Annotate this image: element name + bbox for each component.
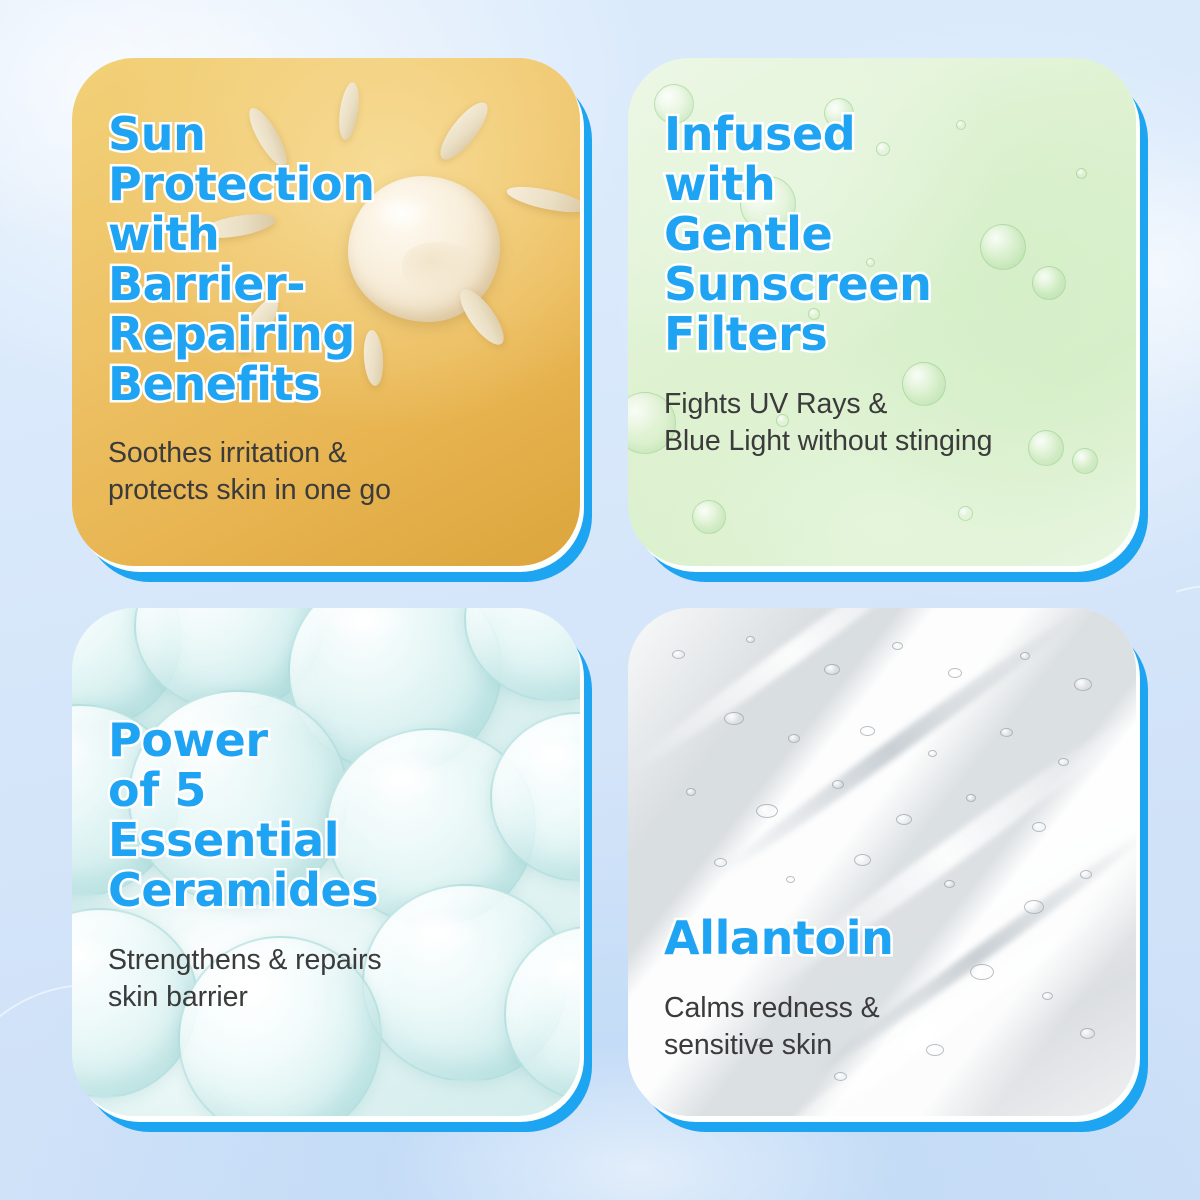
card-text-block: Infused with Gentle Sunscreen Filters Fi…: [628, 58, 1136, 566]
card-headline: Power of 5 Essential Ceramides: [108, 716, 550, 916]
benefit-card-sun-protection[interactable]: Sun Protection with Barrier-Repairing Be…: [72, 58, 580, 566]
card-headline: Sun Protection with Barrier-Repairing Be…: [108, 110, 550, 409]
infographic-page: Sun Protection with Barrier-Repairing Be…: [0, 0, 1200, 1200]
card-subline: Calms redness & sensitive skin: [664, 990, 1106, 1064]
card-face: Power of 5 Essential Ceramides Strengthe…: [72, 608, 580, 1116]
card-text-block: Power of 5 Essential Ceramides Strengthe…: [72, 608, 580, 1116]
benefit-card-gentle-filters[interactable]: Infused with Gentle Sunscreen Filters Fi…: [628, 58, 1136, 566]
card-headline: Allantoin: [664, 914, 1106, 964]
card-headline: Infused with Gentle Sunscreen Filters: [664, 110, 1106, 360]
card-face: Allantoin Calms redness & sensitive skin: [628, 608, 1136, 1116]
card-face: Sun Protection with Barrier-Repairing Be…: [72, 58, 580, 566]
benefit-card-grid: Sun Protection with Barrier-Repairing Be…: [72, 58, 1136, 1154]
benefit-card-allantoin[interactable]: Allantoin Calms redness & sensitive skin: [628, 608, 1136, 1116]
card-face: Infused with Gentle Sunscreen Filters Fi…: [628, 58, 1136, 566]
card-subline: Strengthens & repairs skin barrier: [108, 942, 550, 1016]
card-text-block: Allantoin Calms redness & sensitive skin: [628, 608, 1136, 1116]
card-subline: Fights UV Rays & Blue Light without stin…: [664, 386, 1106, 460]
benefit-card-ceramides[interactable]: Power of 5 Essential Ceramides Strengthe…: [72, 608, 580, 1116]
card-subline: Soothes irritation & protects skin in on…: [108, 435, 550, 509]
card-text-block: Sun Protection with Barrier-Repairing Be…: [72, 58, 580, 566]
